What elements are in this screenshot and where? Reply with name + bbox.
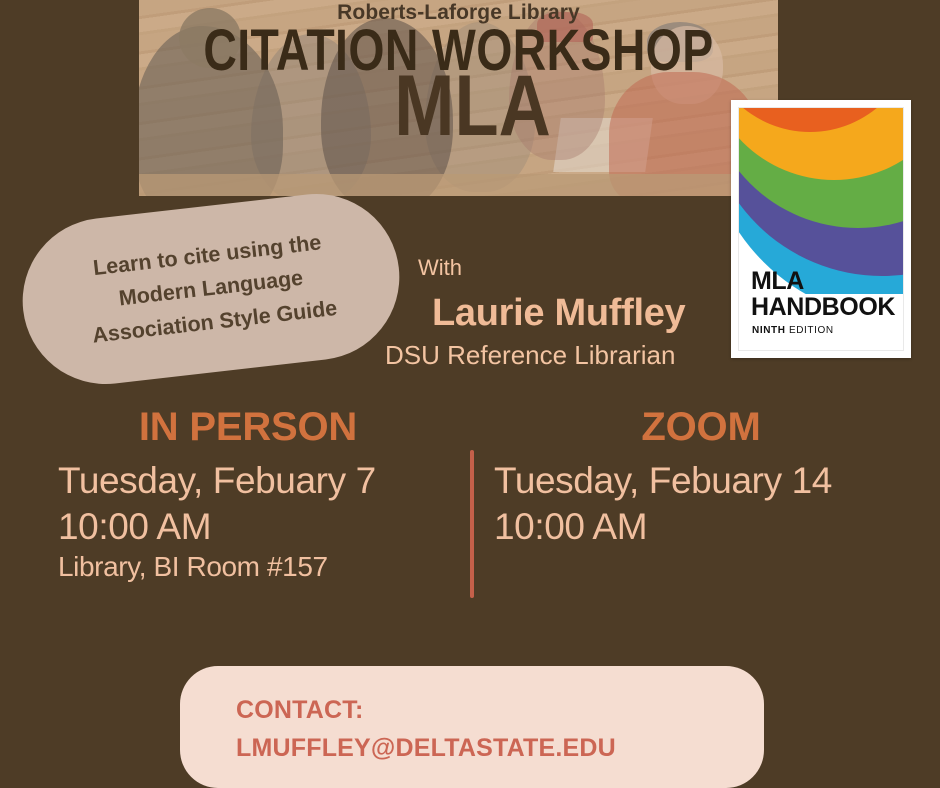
contact-email[interactable]: LMUFFLEY@DELTASTATE.EDU	[236, 730, 764, 768]
hero-banner: Roberts-Laforge Library CITATION WORKSHO…	[139, 0, 778, 196]
session-heading-in-person: IN PERSON	[38, 405, 458, 450]
session-date-in-person: Tuesday, Febuary 7	[38, 458, 458, 504]
contact-label: CONTACT:	[236, 692, 764, 730]
session-time-in-person: 10:00 AM	[38, 504, 458, 550]
session-time-zoom: 10:00 AM	[488, 504, 928, 550]
description-bubble-text: Learn to cite using the Modern Language …	[61, 223, 361, 355]
book-title: MLA HANDBOOK	[751, 269, 895, 320]
poster-canvas: Roberts-Laforge Library CITATION WORKSHO…	[0, 0, 940, 788]
with-label: With	[418, 255, 462, 281]
mla-handbook-cover: MLA HANDBOOK NINTH EDITION	[731, 100, 911, 358]
session-in-person: IN PERSON Tuesday, Febuary 7 10:00 AM Li…	[38, 405, 458, 584]
book-inner-frame: MLA HANDBOOK NINTH EDITION	[738, 107, 904, 351]
book-edition-bold: NINTH	[752, 325, 786, 336]
presenter-name: Laurie Muffley	[432, 292, 685, 335]
session-date-zoom: Tuesday, Febuary 14	[488, 458, 928, 504]
description-bubble: Learn to cite using the Modern Language …	[14, 185, 408, 393]
session-location-in-person: Library, BI Room #157	[38, 550, 458, 585]
column-divider	[470, 450, 474, 598]
session-zoom: ZOOM Tuesday, Febuary 14 10:00 AM	[488, 405, 928, 550]
workshop-style-title: MLA	[216, 66, 729, 148]
hero-text-block: Roberts-Laforge Library CITATION WORKSHO…	[139, 0, 778, 196]
presenter-role: DSU Reference Librarian	[385, 340, 675, 371]
book-title-line2: HANDBOOK	[751, 293, 895, 321]
book-edition: NINTH EDITION	[752, 325, 834, 336]
contact-box: CONTACT: LMUFFLEY@DELTASTATE.EDU	[180, 666, 764, 788]
session-heading-zoom: ZOOM	[474, 405, 928, 450]
book-title-line1: MLA	[751, 267, 804, 295]
book-edition-rest: EDITION	[786, 325, 834, 336]
